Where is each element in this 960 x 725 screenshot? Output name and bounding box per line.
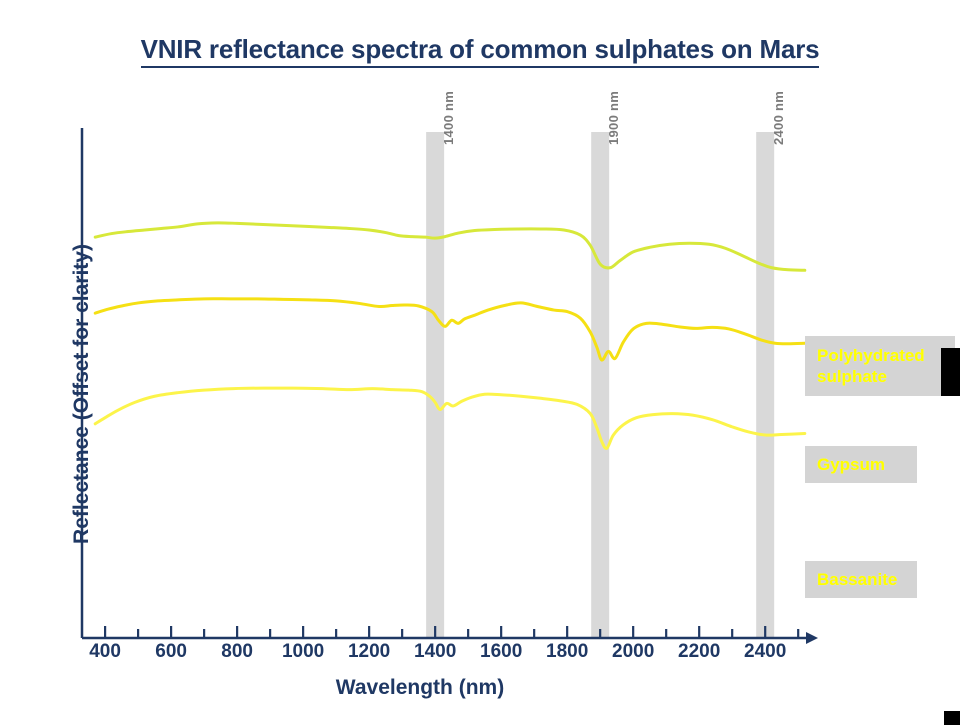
x-axis-arrow bbox=[806, 632, 818, 644]
absorption-bands-layer bbox=[426, 132, 774, 638]
series-layer bbox=[95, 223, 805, 449]
x-axis-ticks bbox=[105, 626, 798, 638]
spectrum-line-polyhydrated-sulphate bbox=[95, 223, 805, 270]
absorption-band-1400 bbox=[426, 132, 444, 638]
chart-figure: VNIR reflectance spectra of common sulph… bbox=[0, 0, 960, 725]
band-label-2400: 2400 nm bbox=[771, 91, 786, 145]
corner-artifact-bottom bbox=[944, 711, 960, 725]
x-axis-title: Wavelength (nm) bbox=[0, 676, 840, 700]
series-label-line-1: Polyhydrated bbox=[817, 345, 943, 366]
series-label-gypsum: Gypsum bbox=[805, 446, 917, 483]
series-label-polyhydrated-sulphate: Polyhydrated sulphate bbox=[805, 336, 955, 396]
series-label-bassanite: Bassanite bbox=[805, 561, 917, 598]
series-label-line-2: sulphate bbox=[817, 366, 943, 387]
band-label-1400: 1400 nm bbox=[441, 91, 456, 145]
x-tick-label-2400: 2400 bbox=[725, 641, 805, 663]
series-label-line-1: Bassanite bbox=[817, 569, 905, 590]
absorption-band-2400 bbox=[756, 132, 774, 638]
band-label-1900: 1900 nm bbox=[606, 91, 621, 145]
series-label-line-1: Gypsum bbox=[817, 454, 905, 475]
corner-artifact-right bbox=[941, 348, 960, 396]
axis-layer bbox=[82, 128, 818, 644]
spectrum-line-gypsum bbox=[95, 299, 805, 360]
spectrum-line-bassanite bbox=[95, 388, 805, 448]
absorption-band-1900 bbox=[591, 132, 609, 638]
y-axis-title: Reflectance (Offset for clarity) bbox=[70, 204, 94, 584]
